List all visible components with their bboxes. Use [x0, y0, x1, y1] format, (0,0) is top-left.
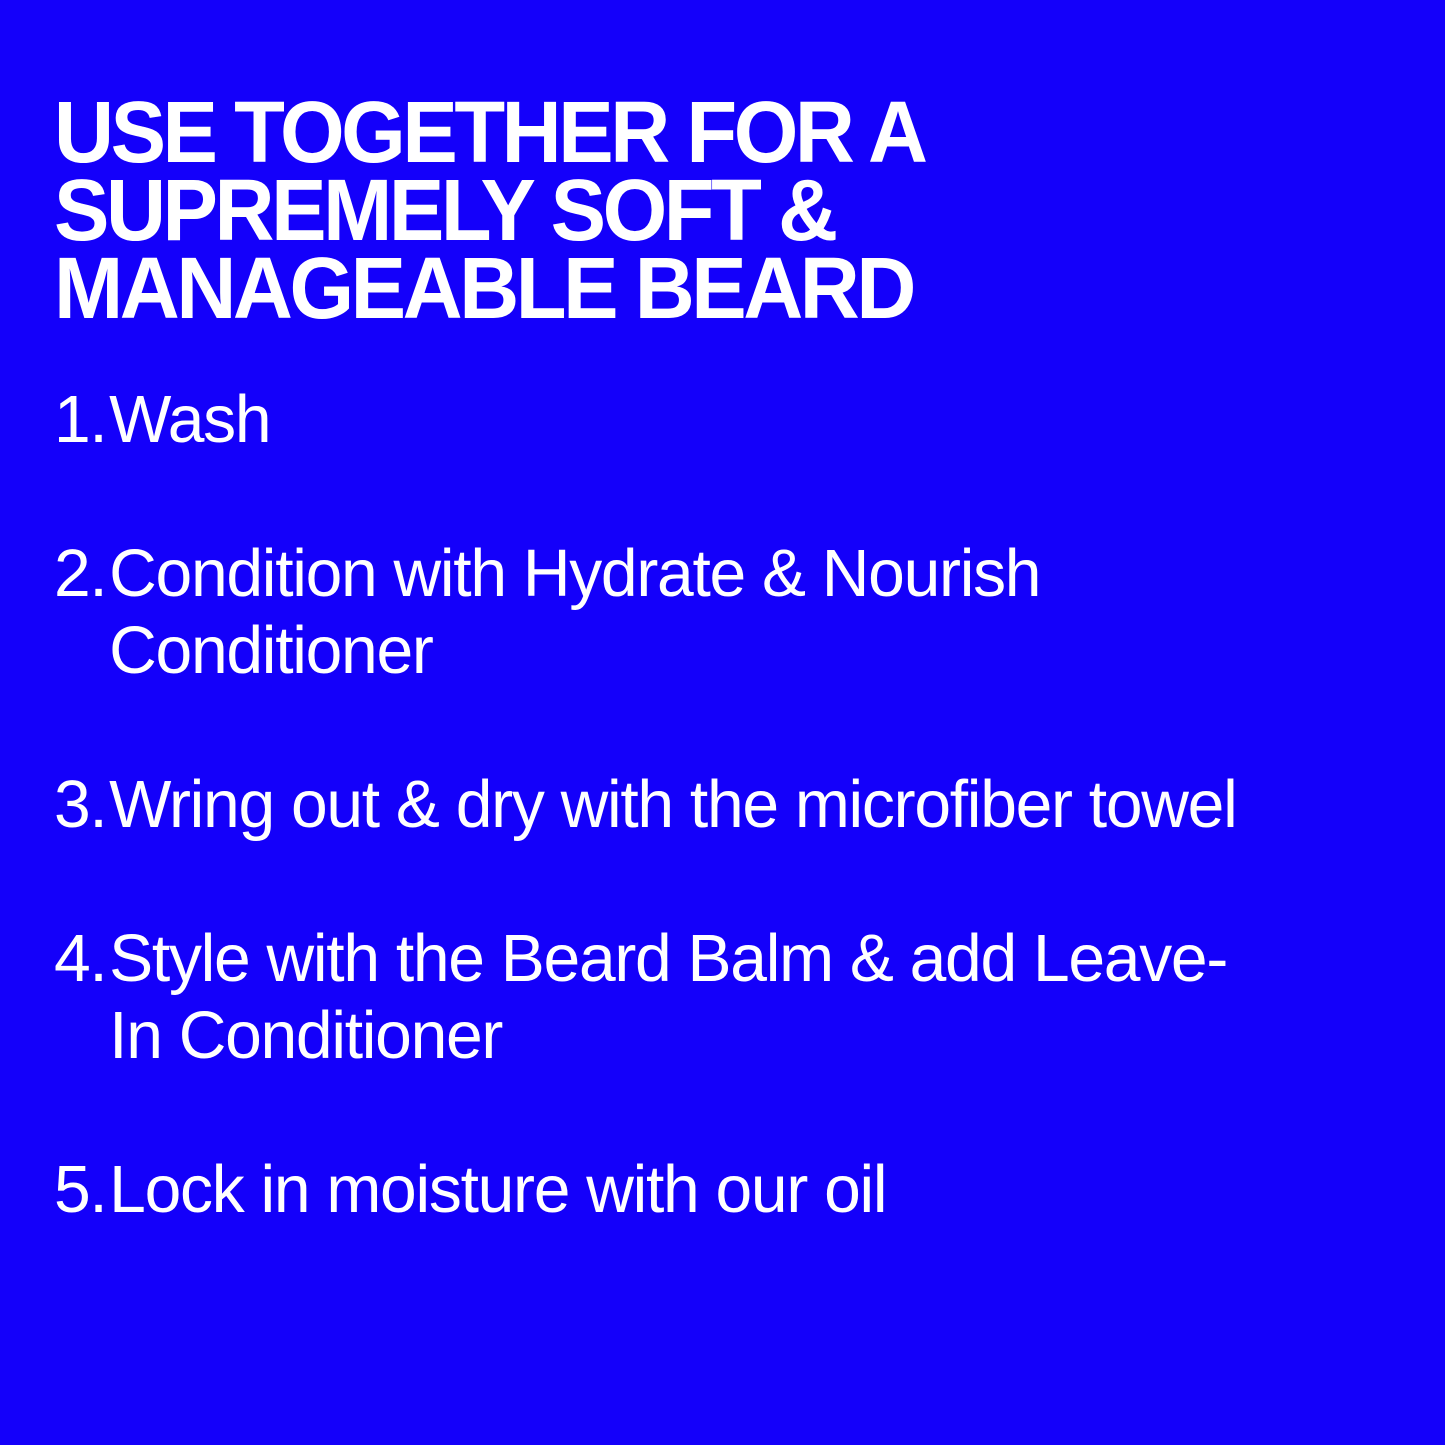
step-number: 1.	[54, 381, 109, 458]
step-number: 4.	[54, 920, 109, 997]
step-number: 2.	[54, 535, 109, 612]
list-item: 4. Style with the Beard Balm & add Leave…	[54, 920, 1266, 1074]
step-label: Wring out & dry with the microfiber towe…	[109, 766, 1265, 843]
list-item: 2. Condition with Hydrate & Nourish Cond…	[54, 535, 1266, 689]
step-number: 5.	[54, 1151, 109, 1228]
step-label: Style with the Beard Balm & add Leave-In…	[109, 920, 1265, 1074]
usage-steps-list: 1. Wash 2. Condition with Hydrate & Nour…	[54, 381, 1284, 1228]
step-label: Condition with Hydrate & Nourish Conditi…	[109, 535, 1265, 689]
page-title: USE TOGETHER FOR A SUPREMELY SOFT & MANA…	[54, 94, 971, 328]
headline-line-2: SUPREMELY SOFT &	[54, 172, 971, 250]
step-label: Wash	[109, 381, 1265, 458]
step-number: 3.	[54, 766, 109, 843]
list-item: 3. Wring out & dry with the microfiber t…	[54, 766, 1266, 843]
list-item: 5. Lock in moisture with our oil	[54, 1151, 1266, 1228]
list-item: 1. Wash	[54, 381, 1266, 458]
headline-line-1: USE TOGETHER FOR A	[54, 94, 971, 172]
product-instructions-poster: USE TOGETHER FOR A SUPREMELY SOFT & MANA…	[0, 0, 1445, 1445]
headline-line-3: MANAGEABLE BEARD	[54, 250, 971, 328]
step-label: Lock in moisture with our oil	[109, 1151, 1265, 1228]
